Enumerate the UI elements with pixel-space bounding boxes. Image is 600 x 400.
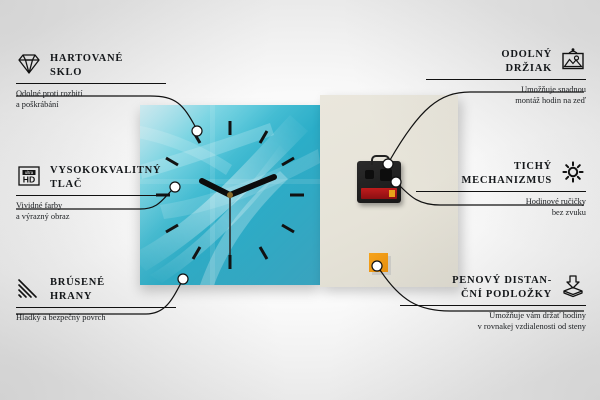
- ultra-hd-icon: ultra HD: [16, 164, 42, 188]
- feature-title: TICHÝ MECHANIZMUS: [461, 160, 552, 187]
- divider: [16, 307, 176, 308]
- feature-foam-spacers: PENOVÝ DISTAN- ČNÍ PODLOŽKY Umožňuje vám…: [400, 274, 586, 332]
- feature-title: PENOVÝ DISTAN- ČNÍ PODLOŽKY: [452, 274, 552, 301]
- feature-description: Hodinové ručičky bez zvuku: [416, 196, 586, 218]
- feature-silent-mechanism: TICHÝ MECHANIZMUS Hodinové ručičky bez z…: [416, 160, 586, 218]
- divider: [426, 79, 586, 80]
- foam-pad-icon: [560, 274, 586, 298]
- feature-high-quality-print: ultra HD VYSOKOKVALITNÝ TLAČ Vividné far…: [16, 164, 166, 222]
- feature-description: Odolné proti rozbití a poškrábání: [16, 88, 166, 110]
- gear-icon: [560, 160, 586, 184]
- feature-title: BRÚSENÉ HRANY: [50, 276, 105, 303]
- brushed-edges-icon: [16, 276, 42, 300]
- divider: [16, 195, 166, 196]
- feature-title: HARTOVANÉ SKLO: [50, 52, 123, 79]
- divider: [416, 191, 586, 192]
- picture-hanger-icon: [560, 48, 586, 72]
- svg-text:HD: HD: [23, 175, 35, 185]
- feature-description: Umožňuje snadnou montáž hodin na zeď: [426, 84, 586, 106]
- infographic-canvas: HARTOVANÉ SKLO Odolné proti rozbití a po…: [0, 0, 600, 400]
- feature-ground-edges: BRÚSENÉ HRANY Hladký a bezpečný povrch: [16, 276, 176, 323]
- feature-title: VYSOKOKVALITNÝ TLAČ: [50, 164, 161, 191]
- feature-tempered-glass: HARTOVANÉ SKLO Odolné proti rozbití a po…: [16, 52, 166, 110]
- divider: [16, 83, 166, 84]
- feature-description: Vividné farby a výrazný obraz: [16, 200, 166, 222]
- feature-durable-holder: ODOLNÝ DRŽIAK Umožňuje snadnou montáž ho…: [426, 48, 586, 106]
- divider: [400, 305, 586, 306]
- feature-description: Hladký a bezpečný povrch: [16, 312, 176, 323]
- feature-description: Umožňuje vám držať hodiny v rovnakej vzd…: [400, 310, 586, 332]
- diamond-icon: [16, 52, 42, 76]
- feature-title: ODOLNÝ DRŽIAK: [501, 48, 552, 75]
